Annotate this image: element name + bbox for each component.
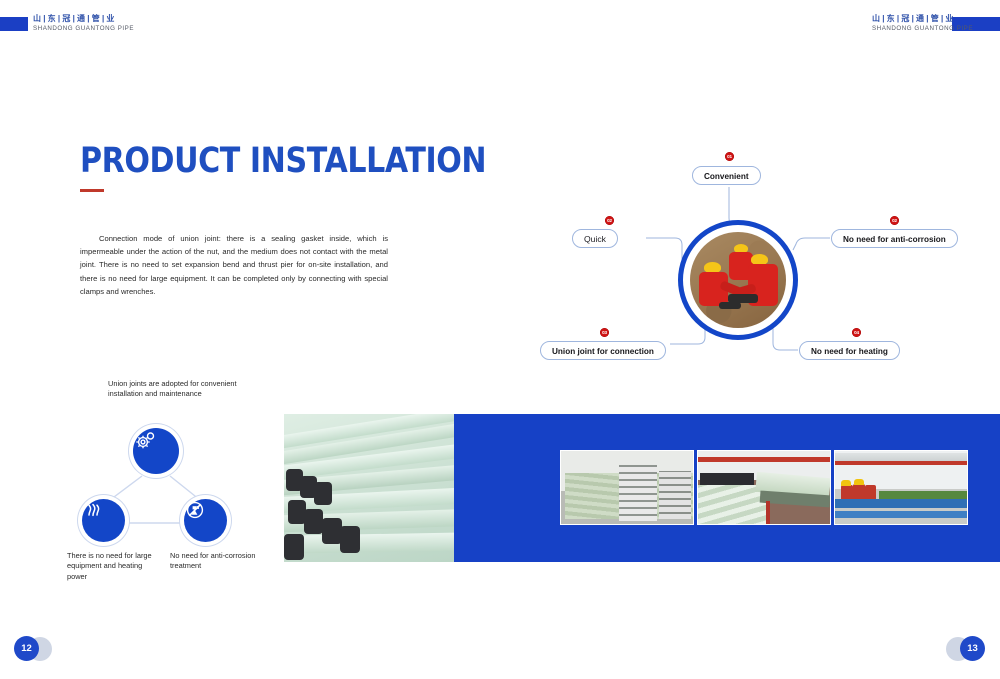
features-triangle-diagram: Union joints are adopted for convenient … bbox=[60, 378, 275, 573]
mindmap-node-union-joint[interactable]: Union joint for connection bbox=[540, 341, 666, 360]
page-number-badge: 13 bbox=[960, 636, 985, 661]
benefits-mindmap: 01 Convenient 02 Quick 02 No need for an… bbox=[530, 140, 1000, 370]
mindmap-node-convenient[interactable]: Convenient bbox=[692, 166, 761, 185]
mindmap-node-no-heating[interactable]: No need for heating bbox=[799, 341, 900, 360]
page-number-left: 12 bbox=[14, 636, 60, 662]
heat-waves-icon bbox=[82, 499, 104, 521]
brand-name-cn: 山 | 东 | 冠 | 通 | 管 | 业 bbox=[33, 14, 134, 24]
hero-pipe-photo bbox=[284, 414, 454, 562]
mindmap-hub bbox=[678, 220, 798, 340]
brand-name-en: SHANDONG GUANTONG PIPE bbox=[33, 24, 134, 33]
hub-photo bbox=[690, 232, 786, 328]
triangle-label-no-corrosion: No need for anti-corrosion treatment bbox=[170, 551, 258, 572]
gear-icon bbox=[133, 428, 157, 452]
pipe-joint-tool bbox=[719, 302, 741, 309]
intro-paragraph: Connection mode of union joint: there is… bbox=[80, 232, 388, 298]
node-badge-03: 03 bbox=[600, 328, 609, 337]
node-badge-02-anticorrosion: 02 bbox=[890, 216, 899, 225]
node-badge-02-quick: 02 bbox=[605, 216, 614, 225]
node-badge-04: 04 bbox=[852, 328, 861, 337]
no-corrosion-spray-icon bbox=[184, 499, 206, 521]
triangle-node-union-joint[interactable] bbox=[133, 428, 179, 474]
triangle-node-no-corrosion[interactable] bbox=[184, 499, 227, 542]
header-accent-bar-left bbox=[0, 17, 28, 31]
triangle-connectors bbox=[60, 378, 275, 573]
brand-logo-left: 山 | 东 | 冠 | 通 | 管 | 业 SHANDONG GUANTONG … bbox=[33, 14, 134, 33]
triangle-node-no-heating[interactable] bbox=[82, 499, 125, 542]
brochure-page: 山 | 东 | 冠 | 通 | 管 | 业 SHANDONG GUANTONG … bbox=[0, 0, 1000, 679]
thumbnail-assembly-line[interactable] bbox=[834, 450, 968, 525]
mindmap-node-quick[interactable]: Quick bbox=[572, 229, 618, 248]
mindmap-node-anti-corrosion[interactable]: No need for anti-corrosion bbox=[831, 229, 958, 248]
page-title: PRODUCT INSTALLATION bbox=[80, 142, 486, 180]
page-number-right: 13 bbox=[940, 636, 986, 662]
brand-logo-right: 山 | 东 | 冠 | 通 | 管 | 业 SHANDONG GUANTONG … bbox=[872, 14, 973, 33]
thumbnail-pipe-yard[interactable] bbox=[560, 450, 694, 525]
triangle-label-no-heating: There is no need for large equipment and… bbox=[67, 551, 153, 582]
brand-name-en-right: SHANDONG GUANTONG PIPE bbox=[872, 24, 973, 33]
brand-name-cn-right: 山 | 东 | 冠 | 通 | 管 | 业 bbox=[872, 14, 973, 24]
node-badge-01: 01 bbox=[725, 152, 734, 161]
thumbnail-production-workshop[interactable] bbox=[697, 450, 831, 525]
title-underline-accent bbox=[80, 189, 104, 192]
page-number-badge: 12 bbox=[14, 636, 39, 661]
photo-band bbox=[284, 414, 1000, 562]
